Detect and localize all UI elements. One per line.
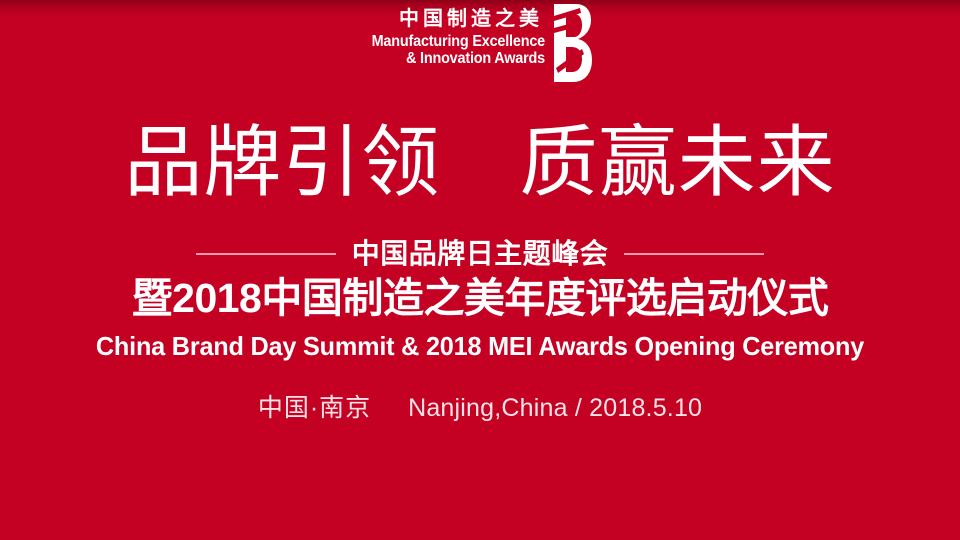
logo-chinese-name: 中国制造之美 (340, 8, 545, 30)
rule-right (624, 253, 764, 255)
subtitle-row: 中国品牌日主题峰会 (0, 236, 960, 272)
rule-left (196, 253, 336, 255)
logo-english-line-1: Manufacturing Excellence (354, 33, 545, 50)
venue-date-row: 中国·南京 Nanjing,China / 2018.5.10 (0, 392, 960, 424)
headline-part-1: 品牌引领 (124, 118, 440, 206)
mei-b-monogram-icon (554, 4, 592, 82)
subtitle-chinese-line-2: 暨2018中国制造之美年度评选启动仪式 (0, 274, 960, 322)
venue-chinese: 中国·南京 (258, 394, 371, 422)
headline-part-2: 质赢未来 (520, 118, 836, 206)
subtitle-chinese-line-1: 中国品牌日主题峰会 (352, 236, 609, 272)
brand-logo-lockup: 中国制造之美 Manufacturing Excellence & Innova… (340, 4, 592, 84)
logo-text-block: 中国制造之美 Manufacturing Excellence & Innova… (340, 4, 545, 67)
venue-english-and-date: Nanjing,China / 2018.5.10 (408, 394, 702, 422)
logo-english-line-2: & Innovation Awards (354, 50, 545, 67)
event-poster: 中国制造之美 Manufacturing Excellence & Innova… (0, 0, 960, 540)
page-title: 品牌引领 质赢未来 (0, 118, 960, 206)
subtitle-english-line: China Brand Day Summit & 2018 MEI Awards… (14, 330, 945, 362)
